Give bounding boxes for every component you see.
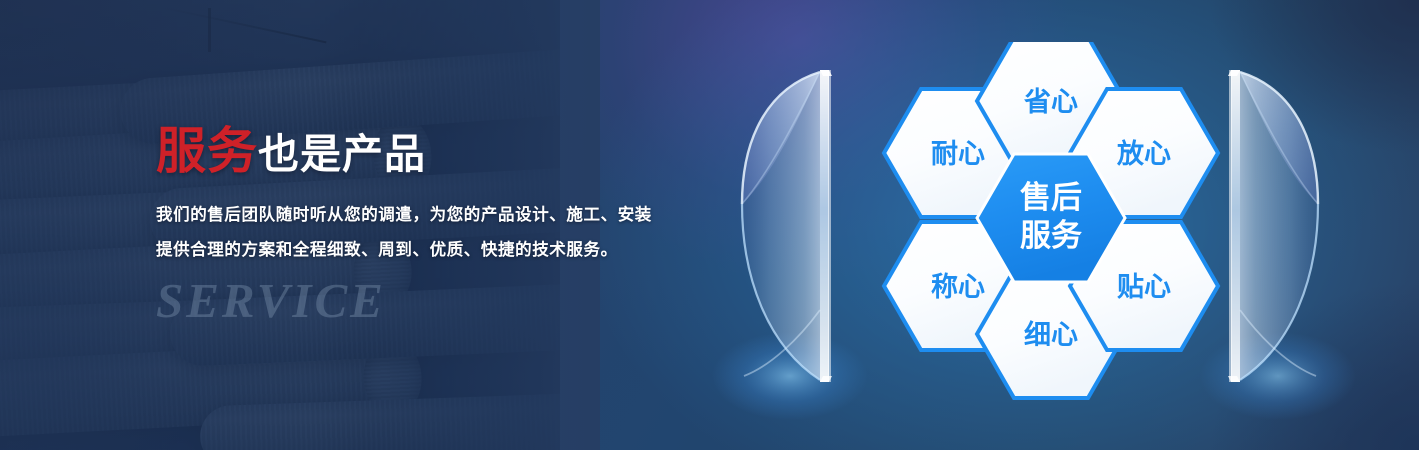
hexagon-label-bottom-left: 称心 — [931, 272, 985, 302]
hexagon-label-top: 省心 — [1024, 87, 1078, 117]
title-highlight: 服务 — [156, 123, 258, 179]
page-title: 服务也是产品 — [156, 126, 736, 176]
hexagon-cluster: 耐心 称心 省心 细心 放心 — [866, 42, 1236, 408]
service-banner: 服务也是产品 我们的售后团队随时听从您的调遣，为您的产品设计、施工、安装 提供合… — [0, 0, 1419, 450]
hexagon-center-label-line-1: 售后 — [1020, 180, 1082, 215]
hexagon-label-bottom: 细心 — [1024, 319, 1078, 350]
hexagon-label-top-left: 耐心 — [931, 139, 985, 169]
watermark-text: SERVICE — [156, 272, 736, 329]
hexagon-label-top-right: 放心 — [1116, 138, 1171, 169]
hexagon-label-bottom-right: 贴心 — [1117, 272, 1171, 302]
hexagon-center-label-line-2: 服务 — [1020, 218, 1082, 253]
left-glass-half-cylinder — [728, 28, 878, 422]
title-rest: 也是产品 — [258, 131, 426, 177]
description-line-1: 我们的售后团队随时听从您的调遣，为您的产品设计、施工、安装 — [156, 198, 736, 233]
banner-text-block: 服务也是产品 我们的售后团队随时听从您的调遣，为您的产品设计、施工、安装 提供合… — [156, 126, 736, 329]
description: 我们的售后团队随时听从您的调遣，为您的产品设计、施工、安装 提供合理的方案和全程… — [156, 198, 736, 268]
description-line-2: 提供合理的方案和全程细致、周到、优质、快捷的技术服务。 — [156, 233, 736, 268]
